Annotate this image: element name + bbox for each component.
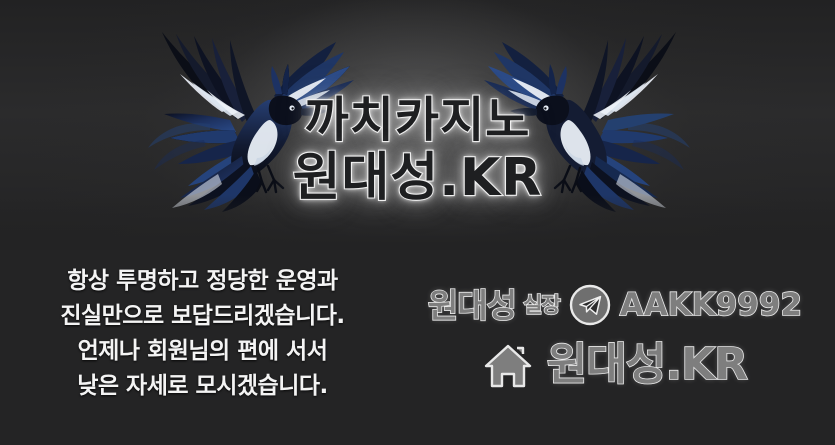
manager-role: 실장 [523, 295, 560, 316]
telegram-contact-row[interactable]: 원대성 실장 AAKK9992 [400, 280, 830, 330]
site-url-row[interactable]: 원대성.KR [400, 334, 830, 396]
telegram-id[interactable]: AAKK9992 [620, 290, 802, 321]
slogan-line-2: 진실만으로 보답드리겠습니다. [10, 299, 395, 334]
casino-promo-banner: 까치카지노 원대성.KR 항상 투명하고 정당한 운영과 진실만으로 보답드리겠… [0, 0, 835, 445]
brand-logo-line2: 원대성.KR [0, 152, 835, 204]
contact-block: 원대성 실장 AAKK9992 [400, 280, 830, 396]
manager-name: 원대성 [428, 289, 516, 322]
slogan-block: 항상 투명하고 정당한 운영과 진실만으로 보답드리겠습니다. 언제나 회원님의… [10, 264, 395, 404]
hero-section: 까치카지노 원대성.KR [0, 0, 835, 250]
bottom-section: 항상 투명하고 정당한 운영과 진실만으로 보답드리겠습니다. 언제나 회원님의… [0, 250, 835, 445]
brand-logo: 까치카지노 원대성.KR [0, 96, 835, 204]
telegram-icon[interactable] [569, 284, 611, 326]
slogan-line-1: 항상 투명하고 정당한 운영과 [10, 264, 395, 299]
home-icon [483, 341, 533, 389]
slogan-line-4: 낮은 자세로 모시겠습니다. [10, 369, 395, 404]
site-url[interactable]: 원대성.KR [547, 343, 747, 387]
brand-logo-line1: 까치카지노 [0, 96, 835, 144]
slogan-line-3: 언제나 회원님의 편에 서서 [10, 334, 395, 369]
